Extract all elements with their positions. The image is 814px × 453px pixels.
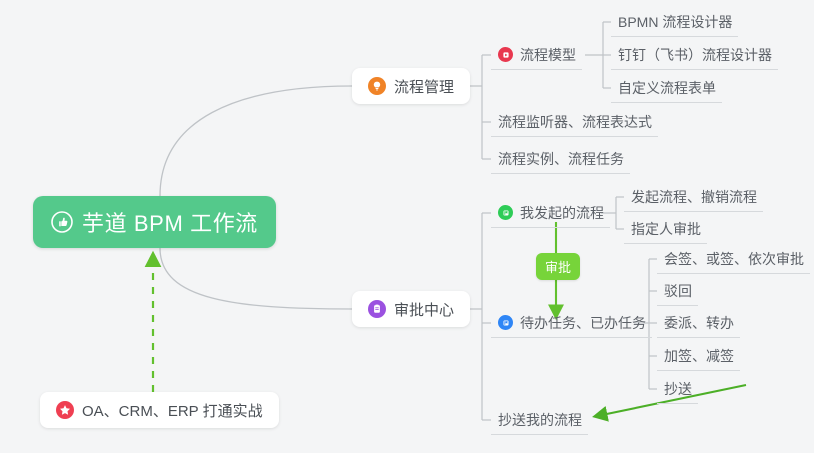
label-reject: 驳回 — [664, 281, 692, 301]
label-custom-process-form: 自定义流程表单 — [618, 78, 716, 98]
label-cc: 抄送 — [664, 379, 692, 399]
node-todo-done-tasks[interactable]: 待办任务、已办任务 — [491, 308, 652, 338]
flag-circle-icon — [498, 315, 513, 330]
mindmap-canvas: 芋道 BPM 工作流 OA、CRM、ERP 打通实战 流程管理 — [0, 0, 814, 453]
root-node[interactable]: 芋道 BPM 工作流 — [33, 196, 276, 248]
annotation-tag-approval-label: 审批 — [545, 257, 571, 276]
root-label: 芋道 BPM 工作流 — [82, 206, 258, 238]
label-process-instance: 流程实例、流程任务 — [498, 149, 624, 169]
clipboard-icon — [368, 300, 386, 318]
node-countersign[interactable]: 会签、或签、依次审批 — [657, 244, 810, 274]
flag-circle-icon — [498, 205, 513, 220]
floating-note-node[interactable]: OA、CRM、ERP 打通实战 — [40, 392, 279, 428]
label-countersign: 会签、或签、依次审批 — [664, 249, 804, 269]
floating-note-label: OA、CRM、ERP 打通实战 — [82, 400, 263, 421]
label-dingtalk-feishu-designer: 钉钉（飞书）流程设计器 — [618, 45, 772, 65]
label-process-model: 流程模型 — [520, 45, 576, 65]
node-start-cancel-process[interactable]: 发起流程、撤销流程 — [624, 182, 763, 212]
node-dingtalk-feishu-designer[interactable]: 钉钉（飞书）流程设计器 — [611, 40, 778, 70]
label-delegate-transfer: 委派、转办 — [664, 313, 734, 333]
label-process-listener: 流程监听器、流程表达式 — [498, 112, 652, 132]
star-icon — [56, 401, 74, 419]
play-circle-icon — [498, 47, 513, 62]
node-bpmn-designer[interactable]: BPMN 流程设计器 — [611, 7, 738, 37]
label-cc-to-me: 抄送我的流程 — [498, 410, 582, 430]
node-process-instance[interactable]: 流程实例、流程任务 — [491, 144, 630, 174]
node-delegate-transfer[interactable]: 委派、转办 — [657, 308, 740, 338]
wire-root-to-process-management — [160, 86, 352, 196]
branch-label-approval-center: 审批中心 — [394, 299, 454, 320]
annotation-tag-approval[interactable]: 审批 — [536, 253, 580, 280]
node-custom-process-form[interactable]: 自定义流程表单 — [611, 73, 722, 103]
node-cc-to-me[interactable]: 抄送我的流程 — [491, 405, 588, 435]
node-add-remove-sign[interactable]: 加签、减签 — [657, 341, 740, 371]
label-assignee-approval: 指定人审批 — [631, 219, 701, 239]
branch-label-process-management: 流程管理 — [394, 76, 454, 97]
label-add-remove-sign: 加签、减签 — [664, 346, 734, 366]
branch-node-process-management[interactable]: 流程管理 — [352, 68, 470, 104]
label-bpmn-designer: BPMN 流程设计器 — [618, 12, 732, 32]
label-my-initiated-process: 我发起的流程 — [520, 203, 604, 223]
node-assignee-approval[interactable]: 指定人审批 — [624, 214, 707, 244]
label-todo-done-tasks: 待办任务、已办任务 — [520, 313, 646, 333]
branch-node-approval-center[interactable]: 审批中心 — [352, 291, 470, 327]
lightbulb-icon — [368, 77, 386, 95]
label-start-cancel-process: 发起流程、撤销流程 — [631, 187, 757, 207]
node-reject[interactable]: 驳回 — [657, 276, 698, 306]
node-process-listener[interactable]: 流程监听器、流程表达式 — [491, 107, 658, 137]
node-my-initiated-process[interactable]: 我发起的流程 — [491, 198, 610, 228]
thumbs-up-icon — [51, 211, 73, 233]
wire-root-to-approval-center — [160, 248, 352, 309]
node-process-model[interactable]: 流程模型 — [491, 40, 582, 70]
node-cc[interactable]: 抄送 — [657, 374, 698, 404]
